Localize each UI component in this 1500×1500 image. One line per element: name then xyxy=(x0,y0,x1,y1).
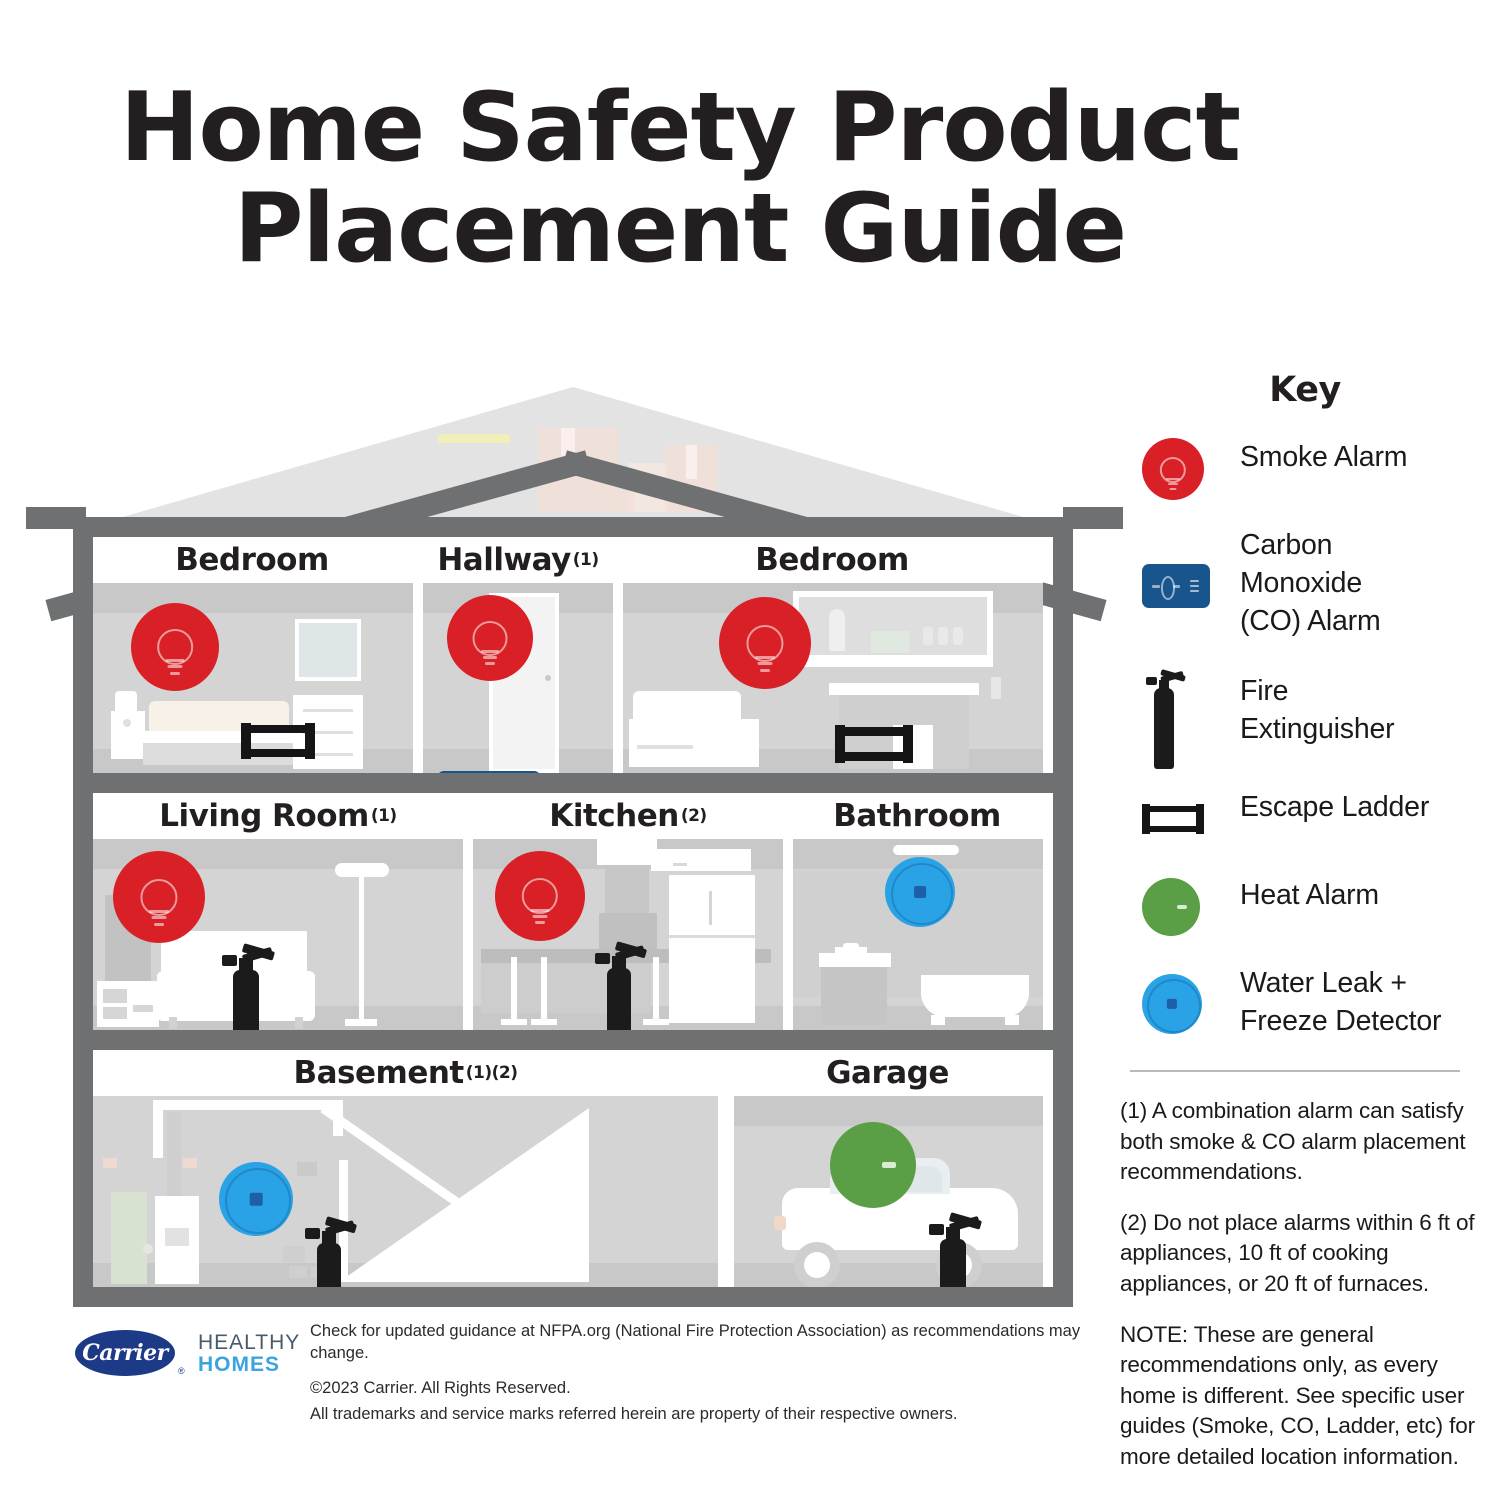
hood-duct xyxy=(605,865,649,913)
key-item-label: Heat Alarm xyxy=(1240,876,1490,914)
room-label: Basement(1)(2) xyxy=(93,1050,718,1096)
key-item-fire-extinguisher[interactable]: Fire Extinguisher xyxy=(1120,672,1490,762)
fire-extinguisher-icon[interactable] xyxy=(533,767,585,773)
healthy-homes-line2: HOMES xyxy=(198,1354,300,1376)
escape-ladder-icon xyxy=(1142,804,1204,834)
co-alarm-icon xyxy=(1142,564,1210,608)
sofa-leg xyxy=(169,1017,177,1029)
healthy-homes-logo: HEALTHY HOMES xyxy=(198,1332,300,1376)
key-item-label: Fire Extinguisher xyxy=(1240,672,1490,748)
key-item-smoke-alarm[interactable]: Smoke Alarm xyxy=(1120,438,1490,500)
car-taillight xyxy=(774,1216,786,1230)
key-item-heat-alarm[interactable]: Heat Alarm xyxy=(1120,876,1490,938)
floor-plate xyxy=(73,1287,1073,1307)
fridge-divider xyxy=(669,935,755,938)
gauge xyxy=(143,1244,153,1254)
floor-lamp-base xyxy=(345,1019,377,1026)
water-leak-detector-icon xyxy=(1142,974,1202,1034)
smoke-alarm-icon[interactable] xyxy=(113,851,205,943)
shelf-object xyxy=(829,609,845,651)
dresser-drawer xyxy=(303,709,353,712)
room-label: Bathroom xyxy=(793,793,1043,839)
footer-trademarks: All trademarks and service marks referre… xyxy=(310,1403,1090,1425)
floor-plate xyxy=(73,1030,1073,1050)
room-basement[interactable]: Basement(1)(2) xyxy=(93,1050,718,1287)
stool-pole xyxy=(511,957,517,1025)
smoke-alarm-icon[interactable] xyxy=(719,597,811,689)
faucet xyxy=(843,943,859,955)
water-leak-detector-icon[interactable] xyxy=(219,1162,293,1236)
room-label: Kitchen(2) xyxy=(473,793,783,839)
shelf-object xyxy=(953,627,963,645)
co-alarm-icon[interactable] xyxy=(437,771,541,773)
bed xyxy=(629,719,759,767)
smoke-alarm-icon[interactable] xyxy=(131,603,219,691)
shelf-board xyxy=(793,659,993,667)
room-scene xyxy=(623,583,1043,773)
key-item-co-alarm[interactable]: Carbon Monoxide (CO) Alarm xyxy=(1120,526,1490,646)
fire-extinguisher-icon[interactable] xyxy=(301,1210,357,1287)
duct-pipe xyxy=(153,1100,343,1110)
shelf-object xyxy=(923,627,933,645)
room-garage[interactable]: Garage xyxy=(734,1050,1043,1287)
footer-guidance: Check for updated guidance at NFPA.org (… xyxy=(310,1320,1090,1365)
range-hood xyxy=(597,839,657,865)
heat-alarm-icon[interactable] xyxy=(830,1122,916,1208)
tub-foot xyxy=(931,1015,945,1025)
tub-foot xyxy=(1005,1015,1019,1025)
footer-text: Check for updated guidance at NFPA.org (… xyxy=(310,1320,1090,1437)
key-item-label: Water Leak + Freeze Detector xyxy=(1240,964,1490,1040)
floor-plate xyxy=(73,517,1073,537)
fire-extinguisher-icon xyxy=(1142,665,1186,769)
sink-basin xyxy=(819,953,891,967)
wall-band xyxy=(734,1096,1043,1126)
carrier-logo-text: Carrier xyxy=(82,1340,167,1366)
escape-ladder-icon[interactable] xyxy=(241,723,315,759)
faucet-handle xyxy=(859,947,867,953)
carrier-logo: Carrier xyxy=(75,1330,175,1376)
lamp-shade xyxy=(115,691,137,713)
roof xyxy=(18,360,1128,535)
house-wall-right xyxy=(1053,517,1073,1307)
key-item-label: Escape Ladder xyxy=(1240,788,1490,826)
room-label: Hallway(1) xyxy=(423,537,613,583)
house-diagram: Bedroom Hal xyxy=(18,360,1128,1310)
nightstand-knob xyxy=(123,719,131,727)
faucet-handle xyxy=(835,947,843,953)
wall-box xyxy=(297,1162,317,1176)
footnote-1: (1) A combination alarm can satisfy both… xyxy=(1120,1096,1482,1188)
room-bedroom-right[interactable]: Bedroom xyxy=(623,537,1043,773)
storage-drum xyxy=(111,1192,147,1284)
room-living-room[interactable]: Living Room(1) xyxy=(93,793,463,1030)
key-item-label: Carbon Monoxide (CO) Alarm xyxy=(1240,526,1490,641)
fire-extinguisher-icon[interactable] xyxy=(591,935,647,1030)
floor-lamp-pole xyxy=(359,873,364,1023)
shelf-object xyxy=(871,631,909,653)
console-item xyxy=(103,1007,127,1019)
room-kitchen[interactable]: Kitchen(2) xyxy=(473,793,783,1030)
vanity-cabinet xyxy=(821,967,887,1025)
cabinet-handle xyxy=(673,863,687,866)
footer-copyright: ©2023 Carrier. All Rights Reserved. xyxy=(310,1377,1090,1399)
healthy-homes-line1: HEALTHY xyxy=(198,1332,300,1354)
key-item-label: Smoke Alarm xyxy=(1240,438,1490,476)
page-title: Home Safety Product Placement Guide xyxy=(0,78,1360,279)
attic-light-icon xyxy=(438,434,510,443)
heat-alarm-icon xyxy=(1142,878,1200,936)
footnote-2: (2) Do not place alarms within 6 ft of a… xyxy=(1120,1208,1482,1300)
room-scene xyxy=(93,1096,718,1287)
room-bathroom[interactable]: Bathroom xyxy=(793,793,1043,1030)
room-bedroom-left[interactable]: Bedroom xyxy=(93,537,413,773)
shelf-object xyxy=(938,627,948,645)
stool-pole xyxy=(653,957,659,1025)
floor-plate xyxy=(73,773,1073,793)
smoke-alarm-icon[interactable] xyxy=(447,595,533,681)
room-label: Garage xyxy=(734,1050,1043,1096)
door-knob xyxy=(545,675,551,681)
upper-cabinet xyxy=(651,849,751,871)
key-divider xyxy=(1130,1070,1460,1072)
key-item-water-leak-detector[interactable]: Water Leak + Freeze Detector xyxy=(1120,964,1490,1044)
wall-band xyxy=(93,583,413,613)
desk-top xyxy=(829,683,979,695)
footnote-note: NOTE: These are general recommendations … xyxy=(1120,1320,1482,1473)
vanity-light xyxy=(893,845,959,855)
smoke-alarm-icon xyxy=(1142,438,1204,500)
attic-box xyxy=(686,445,697,479)
fridge-handle xyxy=(709,891,712,925)
house-wall-left xyxy=(73,517,93,1307)
key-title: Key xyxy=(1120,370,1490,410)
wall-mark xyxy=(103,1158,117,1168)
carrier-registered-mark: ® xyxy=(178,1366,185,1376)
fire-extinguisher-icon[interactable] xyxy=(924,1206,982,1287)
room-label: Living Room(1) xyxy=(93,793,463,839)
staircase xyxy=(339,1108,589,1282)
room-label: Bedroom xyxy=(623,537,1043,583)
wall-mark xyxy=(183,1158,197,1168)
console-item xyxy=(133,1005,153,1012)
sofa-leg xyxy=(295,1017,303,1029)
wall-art-inner xyxy=(299,623,357,677)
room-hallway[interactable]: Hallway(1) xyxy=(423,537,613,773)
water-leak-detector-icon[interactable] xyxy=(885,857,955,927)
bed-line xyxy=(637,745,693,749)
bathtub xyxy=(921,975,1029,1017)
key-item-escape-ladder[interactable]: Escape Ladder xyxy=(1120,788,1490,850)
stool-pole xyxy=(541,957,547,1025)
stool-base xyxy=(531,1019,557,1025)
attic-box xyxy=(613,490,635,512)
console-item xyxy=(103,989,127,1003)
smoke-alarm-icon[interactable] xyxy=(495,851,585,941)
heater-panel xyxy=(165,1228,189,1246)
room-label: Bedroom xyxy=(93,537,413,583)
key-panel: Key Smoke Alarm Carbon Monoxide (CO) Ala… xyxy=(1120,370,1490,1493)
desk-object xyxy=(991,677,1001,699)
fridge xyxy=(669,875,755,1023)
floor-band xyxy=(734,1263,1043,1287)
escape-ladder-icon[interactable] xyxy=(835,725,913,763)
media-console xyxy=(97,981,159,1027)
car-hubcap xyxy=(804,1252,830,1278)
stool-base xyxy=(501,1019,527,1025)
fire-extinguisher-icon[interactable] xyxy=(217,937,275,1030)
